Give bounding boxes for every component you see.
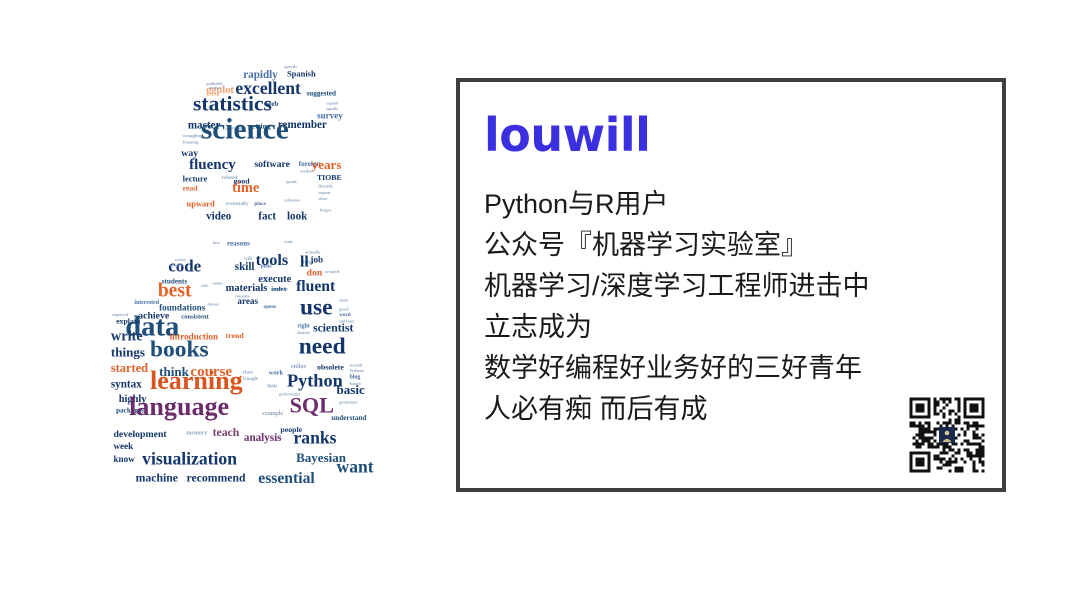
wordcloud-word: will <box>244 256 253 262</box>
wordcloud-word: recommend <box>187 472 246 485</box>
wordcloud-word: render <box>170 262 183 267</box>
wordcloud-word: machine <box>136 472 178 485</box>
wordcloud-word: learning <box>150 366 243 395</box>
wordcloud-word: use <box>300 295 333 321</box>
wordcloud-word: loss <box>213 240 220 245</box>
wordcloud-word: place <box>254 201 266 207</box>
wordcloud-word: write <box>111 329 143 345</box>
wordcloud-word: expand <box>326 102 339 106</box>
wordcloud-word: know <box>113 454 135 464</box>
wordcloud-word: forget <box>320 208 332 213</box>
wordcloud-word: eventually <box>226 201 249 207</box>
wordcloud-word: little <box>267 384 278 390</box>
wordcloud-word: speak <box>286 179 298 184</box>
wordcloud-word: development <box>113 429 167 440</box>
wordcloud-word: job <box>309 254 323 264</box>
wordcloud-word: explain <box>116 317 141 326</box>
wordcloud-word: tools <box>256 250 289 269</box>
wordcloud-word: clear <box>318 196 328 201</box>
wordcloud-word: example <box>262 411 283 417</box>
wordcloud-word: actually <box>305 249 321 254</box>
wordcloud-word: fact <box>258 210 276 222</box>
wordcloud-word: Google <box>243 376 259 382</box>
wordcloud-word: read <box>183 184 199 193</box>
wordcloud-word: things <box>111 344 145 359</box>
wordcloud-word: framing <box>183 140 199 145</box>
wordcloud-word: look <box>287 210 308 222</box>
wordcloud-image: rapidlySpanishspeedssuggestedggplotexcel… <box>40 55 440 505</box>
wordcloud-svg: rapidlySpanishspeedssuggestedggplotexcel… <box>40 55 440 505</box>
wordcloud-word: media <box>300 168 313 173</box>
profile-line-1: Python与R用户 <box>484 184 1002 225</box>
wordcloud-word: trend <box>226 331 245 340</box>
wordcloud-word: need <box>299 334 346 360</box>
wordcloud-word: teach <box>213 426 240 439</box>
wordcloud-word: SQL <box>290 392 334 417</box>
wordcloud-word: recently <box>350 364 363 368</box>
wordcloud-word: syntax <box>111 379 142 391</box>
wordcloud-word: TIOBE <box>317 173 342 182</box>
wordcloud-word: ranks <box>293 428 336 448</box>
wordcloud-word: stats <box>284 239 293 244</box>
wordcloud-word: struggling <box>183 133 203 138</box>
wordcloud-word: dozen <box>207 301 219 306</box>
wordcloud-word: wrote <box>175 257 186 262</box>
qr-code[interactable] <box>906 394 988 476</box>
wordcloud-word: employed <box>112 313 129 317</box>
wordcloud-word: want <box>337 456 374 476</box>
wordcloud-word: word <box>339 312 351 318</box>
wordcloud-word: memory <box>187 431 208 437</box>
wordcloud-word: Pythonic <box>350 369 365 373</box>
wordcloud-word: best <box>158 280 192 301</box>
wordcloud-word: skill <box>235 261 255 273</box>
wordcloud-word: fluent <box>296 278 336 295</box>
wordcloud-word: blog <box>350 374 361 380</box>
wordcloud-word: visualization <box>142 449 237 469</box>
qr-code-icon <box>906 394 988 476</box>
wordcloud-word: upward <box>187 198 216 208</box>
wordcloud-word: Python <box>287 370 343 390</box>
profile-name: louwill <box>484 112 1002 158</box>
wordcloud-word: index <box>271 286 287 293</box>
wordcloud-word: Spanish <box>287 69 316 79</box>
wordcloud-word: started <box>111 361 148 375</box>
wordcloud-word: essential <box>258 470 315 487</box>
wordcloud-word: years <box>312 157 342 172</box>
wordcloud-word: time <box>232 180 259 196</box>
wordcloud-word: understand <box>331 414 366 422</box>
wordcloud-word: grammar <box>339 399 357 404</box>
wordcloud-word: sense <box>213 281 223 286</box>
wordcloud-word: fluently <box>318 183 334 188</box>
wordcloud-word: language <box>129 392 229 421</box>
wordcloud-word: interested <box>134 300 159 306</box>
wordcloud-word: speeds <box>284 64 297 69</box>
profile-card-content: louwill Python与R用户 公众号『机器学习实验室』 机器学习/深度学… <box>460 82 1002 488</box>
profile-line-3: 机器学习/深度学习工程师进击中 <box>484 266 1002 307</box>
wordcloud-word: state <box>339 298 348 303</box>
wordcloud-word: online <box>291 364 307 370</box>
profile-line-2: 公众号『机器学习实验室』 <box>484 225 1002 266</box>
wordcloud-word: analyze <box>209 86 222 90</box>
wordcloud-word: reasons <box>227 239 250 247</box>
wordcloud-word: class <box>243 369 253 375</box>
wordcloud-word: opens <box>263 304 276 310</box>
wordcloud-word: execute <box>258 274 291 285</box>
wordcloud-word: created <box>325 269 340 274</box>
wordcloud-word: good <box>339 307 349 312</box>
slide-canvas: rapidlySpanishspeedssuggestedggplotexcel… <box>0 0 1080 608</box>
wordcloud-word: basic <box>337 382 365 397</box>
wordcloud-word: analysis <box>244 432 282 444</box>
wordcloud-word: right <box>297 324 309 330</box>
wordcloud-word: milestone <box>284 199 300 203</box>
profile-line-5: 数学好编程好业务好的三好青年 <box>484 348 1002 389</box>
profile-line-4: 立志成为 <box>484 307 1002 348</box>
wordcloud-word: week <box>113 441 134 451</box>
wordcloud-word: work <box>269 370 284 377</box>
wordcloud-word: repeat <box>318 190 331 195</box>
wordcloud-word: scientist <box>313 322 353 335</box>
wordcloud-word: areas <box>237 296 258 306</box>
profile-card: louwill Python与R用户 公众号『机器学习实验室』 机器学习/深度学… <box>456 78 1006 492</box>
wordcloud-word: software <box>254 159 290 170</box>
wordcloud-word: don <box>307 267 323 278</box>
wordcloud-word: science <box>201 113 289 145</box>
wordcloud-word: books <box>150 336 209 362</box>
wordcloud-word: video <box>206 210 232 222</box>
wordcloud-word: lecture <box>183 174 208 184</box>
wordcloud-word: soft <box>201 283 209 288</box>
wordcloud-word: statistics <box>193 91 272 115</box>
wordcloud-word: suggested <box>307 89 336 97</box>
wordcloud-word: consistent <box>181 313 209 320</box>
wordcloud-word: fluency <box>189 157 236 173</box>
